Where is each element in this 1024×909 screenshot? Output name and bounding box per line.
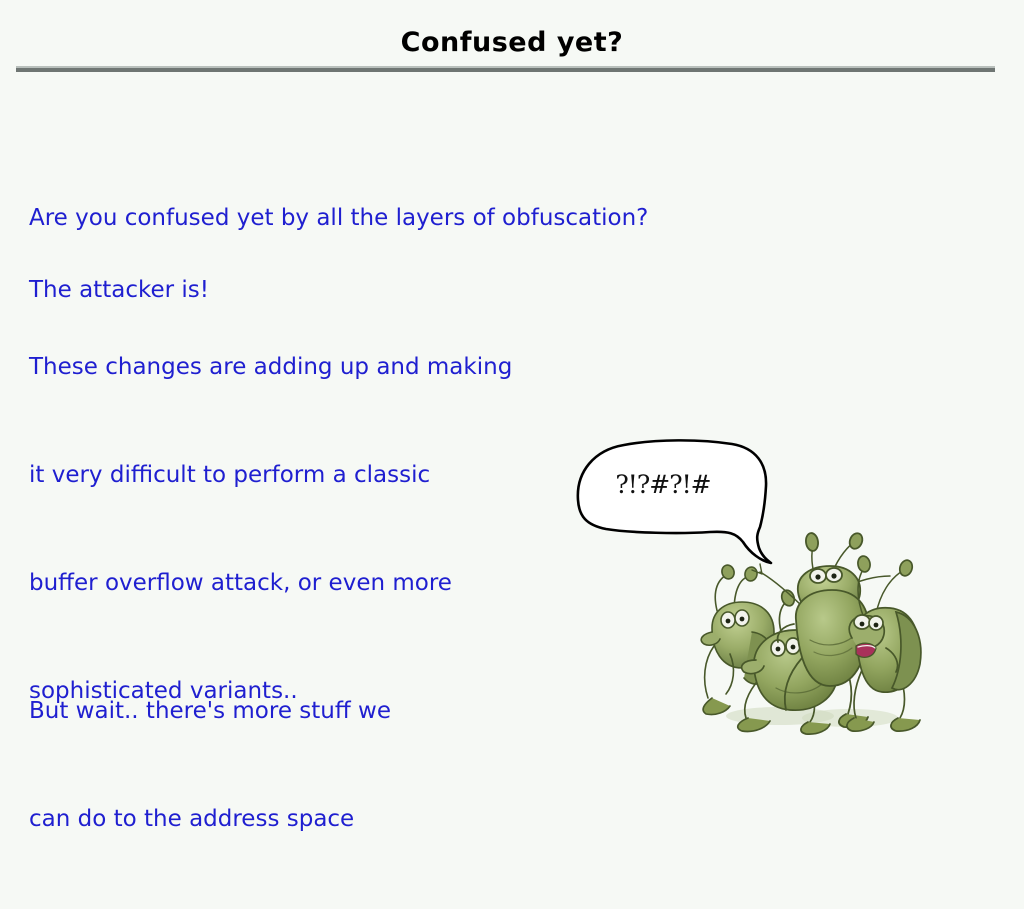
speech-bubble-text: ?!?#?!#: [560, 470, 766, 499]
bug-right: [847, 555, 921, 731]
slide-canvas: Confused yet? Are you confused yet by al…: [0, 0, 1024, 768]
body-paragraph-4: But wait.. there's more stuff we can do …: [29, 621, 391, 909]
body-line: it very difficult to perform a classic: [29, 457, 512, 493]
bugs-artwork: [690, 528, 930, 738]
body-line: buffer overflow attack, or even more: [29, 565, 512, 601]
page-title: Confused yet?: [0, 26, 1024, 60]
body-line: These changes are adding up and making: [29, 349, 512, 385]
body-line: But wait.. there's more stuff we: [29, 693, 391, 729]
body-line: can do to the address space: [29, 801, 391, 837]
bugs-illustration: [690, 528, 930, 738]
title-divider: [16, 66, 995, 72]
